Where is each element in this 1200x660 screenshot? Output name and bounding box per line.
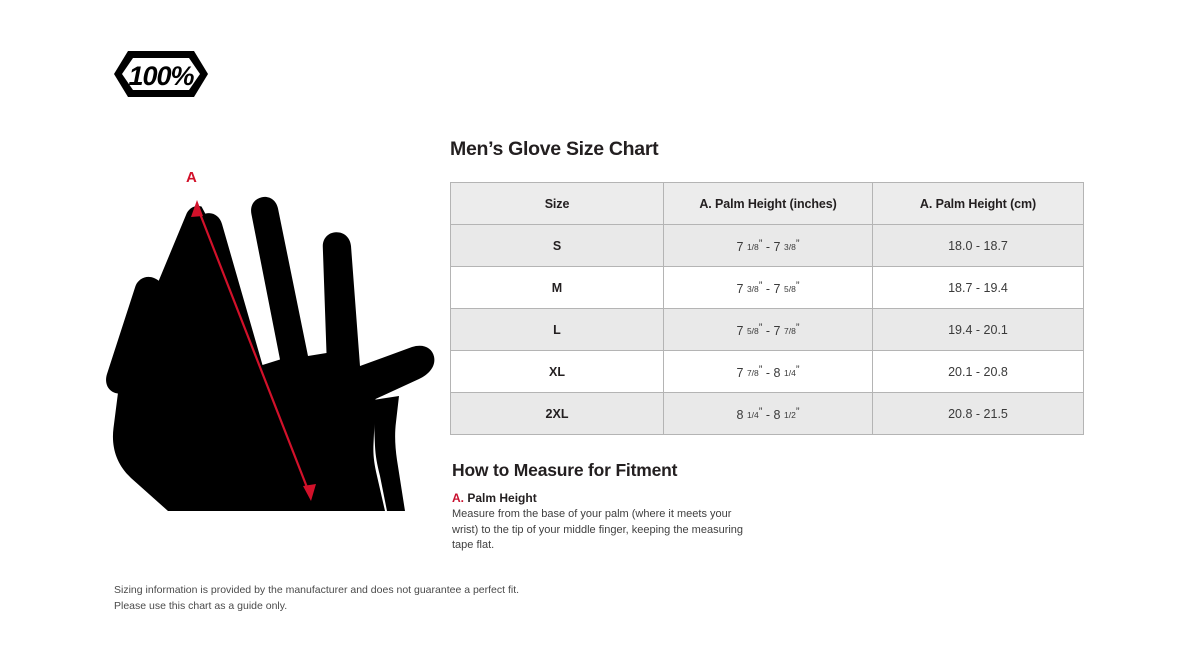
cell-inches: 7 5/8” - 7 7/8” — [664, 309, 873, 351]
measure-item-letter: A. — [452, 491, 464, 505]
cell-inches: 7 7/8” - 8 1/4” — [664, 351, 873, 393]
how-to-measure-heading: How to Measure for Fitment — [452, 460, 1090, 481]
disclaimer-text: Sizing information is provided by the ma… — [114, 583, 519, 615]
cell-inches: 7 3/8” - 7 5/8” — [664, 267, 873, 309]
table-row: M 7 3/8” - 7 5/8” 18.7 - 19.4 — [451, 267, 1084, 309]
cell-cm: 18.0 - 18.7 — [873, 225, 1084, 267]
measure-item-name: Palm Height — [467, 491, 536, 505]
cell-size: S — [451, 225, 664, 267]
table-body: S 7 1/8” - 7 3/8” 18.0 - 18.7 M 7 3/8” -… — [451, 225, 1084, 435]
cell-inches: 7 1/8” - 7 3/8” — [664, 225, 873, 267]
table-header-row: Size A. Palm Height (inches) A. Palm Hei… — [451, 183, 1084, 225]
size-chart-panel: Men’s Glove Size Chart Size A. Palm Heig… — [450, 138, 1090, 554]
column-header-size: Size — [451, 183, 664, 225]
table-row: XL 7 7/8” - 8 1/4” 20.1 - 20.8 — [451, 351, 1084, 393]
logo-wordmark: 100% — [128, 61, 194, 91]
100-percent-logo: 100% — [112, 48, 210, 100]
cell-cm: 18.7 - 19.4 — [873, 267, 1084, 309]
disclaimer-line-1: Sizing information is provided by the ma… — [114, 583, 519, 599]
column-header-inches: A. Palm Height (inches) — [664, 183, 873, 225]
cell-size: M — [451, 267, 664, 309]
cell-cm: 19.4 - 20.1 — [873, 309, 1084, 351]
cell-size: 2XL — [451, 393, 664, 435]
cell-size: L — [451, 309, 664, 351]
table-row: 2XL 8 1/4” - 8 1/2” 20.8 - 21.5 — [451, 393, 1084, 435]
measure-item-heading: A. Palm Height — [452, 491, 1090, 505]
cell-cm: 20.1 - 20.8 — [873, 351, 1084, 393]
column-header-cm: A. Palm Height (cm) — [873, 183, 1084, 225]
table-row: S 7 1/8” - 7 3/8” 18.0 - 18.7 — [451, 225, 1084, 267]
size-chart-table: Size A. Palm Height (inches) A. Palm Hei… — [450, 182, 1084, 435]
cell-inches: 8 1/4” - 8 1/2” — [664, 393, 873, 435]
cell-size: XL — [451, 351, 664, 393]
table-row: L 7 5/8” - 7 7/8” 19.4 - 20.1 — [451, 309, 1084, 351]
measure-item-description: Measure from the base of your palm (wher… — [452, 507, 752, 554]
glove-hand-silhouette — [105, 160, 445, 525]
disclaimer-line-2: Please use this chart as a guide only. — [114, 599, 519, 615]
page-title: Men’s Glove Size Chart — [450, 138, 1090, 161]
measure-label-a: A — [186, 169, 197, 186]
cell-cm: 20.8 - 21.5 — [873, 393, 1084, 435]
